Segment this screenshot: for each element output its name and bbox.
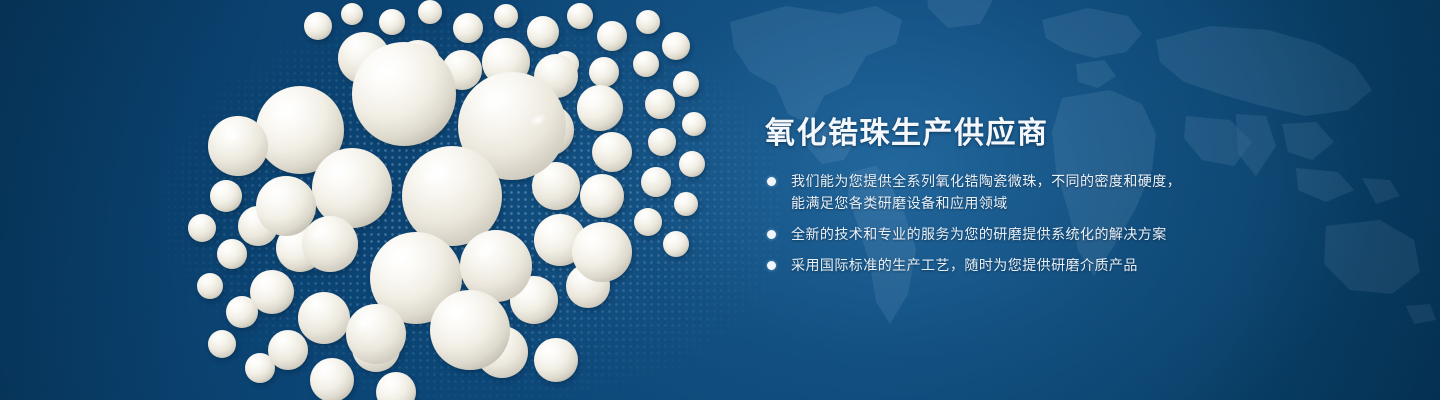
promo-banner: 氧化锆珠生产供应商 我们能为您提供全系列氧化锆陶瓷微珠，不同的密度和硬度， 能满… xyxy=(0,0,1440,400)
list-item: 我们能为您提供全系列氧化锆陶瓷微珠，不同的密度和硬度， 能满足您各类研磨设备和应… xyxy=(765,170,1235,214)
feature-line-1: 我们能为您提供全系列氧化锆陶瓷微珠，不同的密度和硬度， xyxy=(791,170,1235,192)
banner-headline: 氧化锆珠生产供应商 xyxy=(765,108,1049,152)
feature-list: 我们能为您提供全系列氧化锆陶瓷微珠，不同的密度和硬度， 能满足您各类研磨设备和应… xyxy=(765,170,1235,276)
bullet-dot-icon xyxy=(767,230,776,239)
bullet-dot-icon xyxy=(767,261,776,270)
list-item: 全新的技术和专业的服务为您的研磨提供系统化的解决方案 xyxy=(765,223,1235,245)
bullet-dot-icon xyxy=(767,177,776,186)
feature-line-1: 全新的技术和专业的服务为您的研磨提供系统化的解决方案 xyxy=(791,223,1235,245)
feature-line-1: 采用国际标准的生产工艺，随时为您提供研磨介质产品 xyxy=(791,254,1235,276)
banner-text-block: 氧化锆珠生产供应商 我们能为您提供全系列氧化锆陶瓷微珠，不同的密度和硬度， 能满… xyxy=(765,0,1365,400)
list-item: 采用国际标准的生产工艺，随时为您提供研磨介质产品 xyxy=(765,254,1235,276)
feature-line-2: 能满足您各类研磨设备和应用领域 xyxy=(791,192,1235,214)
